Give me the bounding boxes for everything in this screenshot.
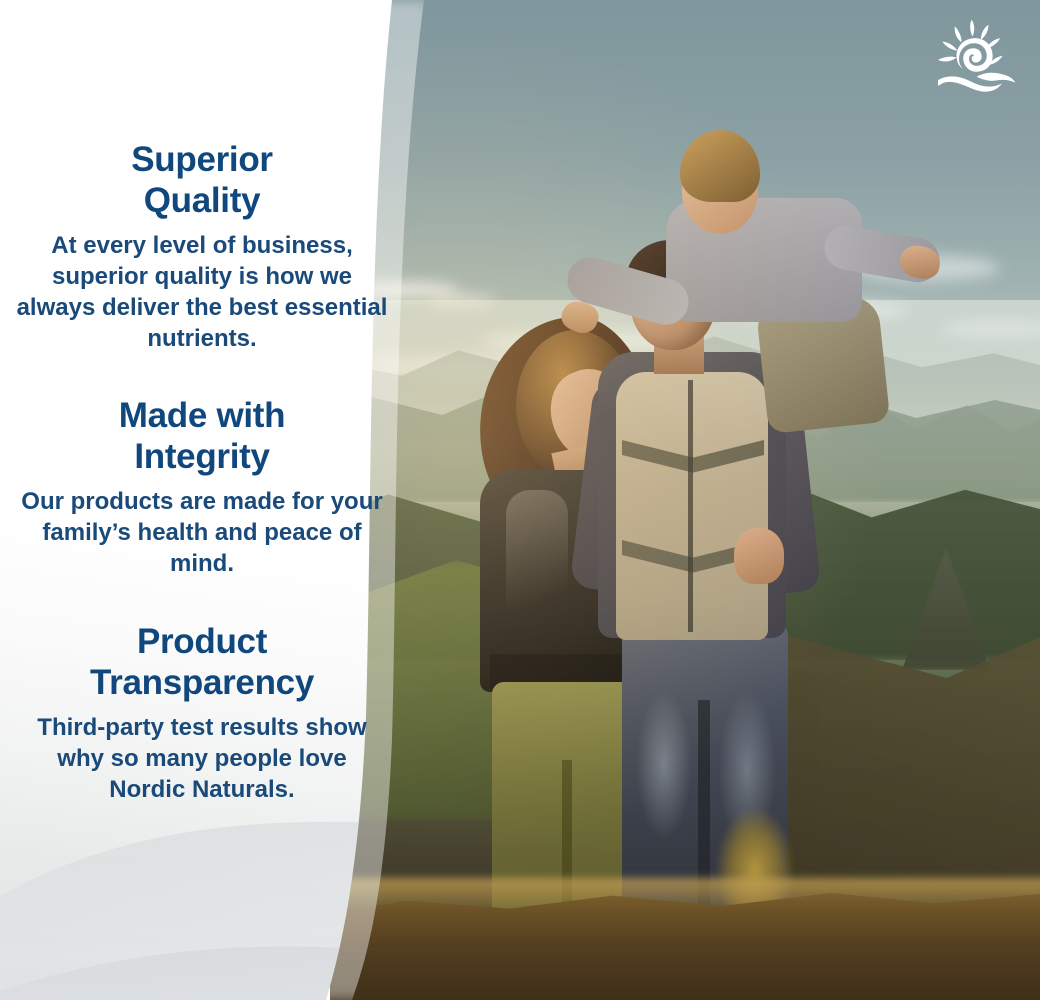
brand-values-poster: SuperiorQuality At every level of busine… bbox=[0, 0, 1040, 1000]
value-props-content: SuperiorQuality At every level of busine… bbox=[0, 0, 400, 1000]
value-heading-line2: Quality bbox=[144, 181, 261, 220]
father-vest-zipper bbox=[688, 380, 693, 632]
value-heading: ProductTransparency bbox=[16, 622, 388, 703]
value-heading-line1: Superior bbox=[131, 140, 273, 179]
mother-jacket-highlight bbox=[506, 490, 568, 640]
value-body: Our products are made for your family’s … bbox=[16, 487, 388, 580]
value-body: Third-party test results show why so man… bbox=[16, 713, 388, 806]
father-hand bbox=[734, 528, 784, 584]
value-block-product-transparency: ProductTransparency Third-party test res… bbox=[16, 622, 388, 806]
value-heading: Made withIntegrity bbox=[16, 396, 388, 477]
value-heading-line2: Integrity bbox=[134, 437, 269, 476]
value-heading-line2: Transparency bbox=[90, 663, 314, 702]
value-heading-line1: Made with bbox=[119, 396, 285, 435]
sun-over-waves-logo-icon bbox=[938, 20, 1015, 92]
father-jeans-highlight bbox=[636, 690, 692, 840]
family-mountain-photo bbox=[330, 0, 1040, 1000]
nordic-naturals-logo bbox=[932, 18, 1018, 102]
value-body: At every level of business, superior qua… bbox=[16, 231, 388, 355]
value-heading: SuperiorQuality bbox=[16, 140, 388, 221]
cloud-shape bbox=[426, 295, 496, 307]
cloud-shape bbox=[940, 320, 1040, 338]
child-hair bbox=[680, 130, 760, 202]
value-heading-line1: Product bbox=[137, 622, 267, 661]
value-block-made-with-integrity: Made withIntegrity Our products are made… bbox=[16, 396, 388, 580]
value-block-superior-quality: SuperiorQuality At every level of busine… bbox=[16, 140, 388, 355]
